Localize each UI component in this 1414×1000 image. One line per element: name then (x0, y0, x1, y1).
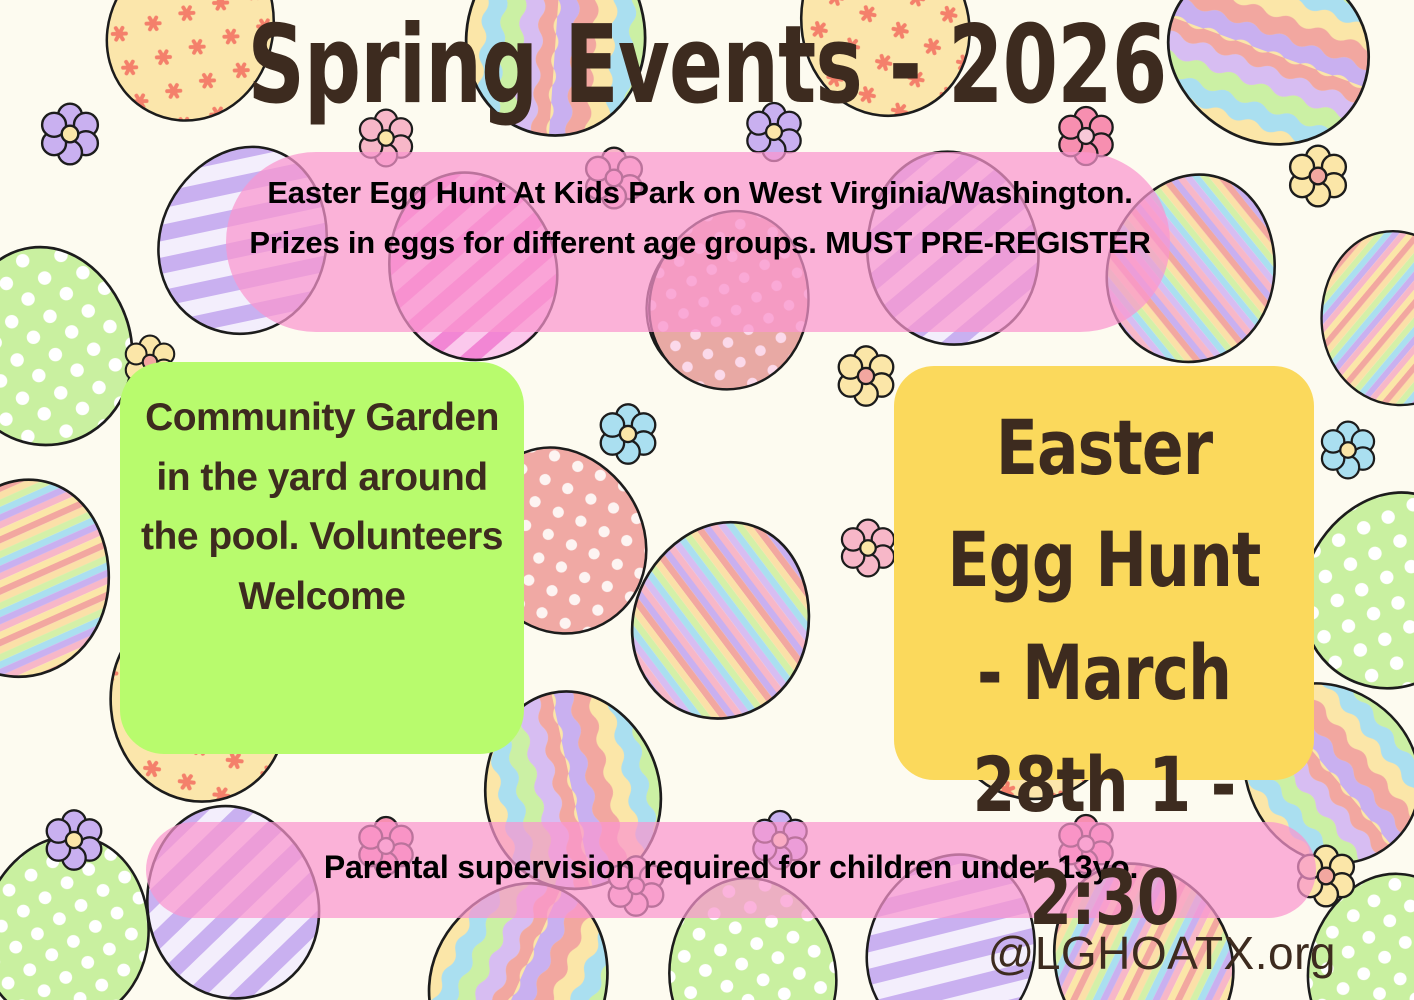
event-description-text: Easter Egg Hunt At Kids Park on West Vir… (236, 168, 1164, 268)
poster-canvas: Easter Egg Hunt At Kids Park on West Vir… (0, 0, 1414, 1000)
page-title: Spring Events - 2026 (127, 8, 1286, 125)
egg-hunt-date-text: Easter Egg Hunt - March 28th 1 - 2:30 (926, 392, 1282, 954)
community-garden-text: Community Garden in the yard around the … (136, 388, 508, 627)
organization-handle: @LGHOATX.org (988, 926, 1336, 980)
